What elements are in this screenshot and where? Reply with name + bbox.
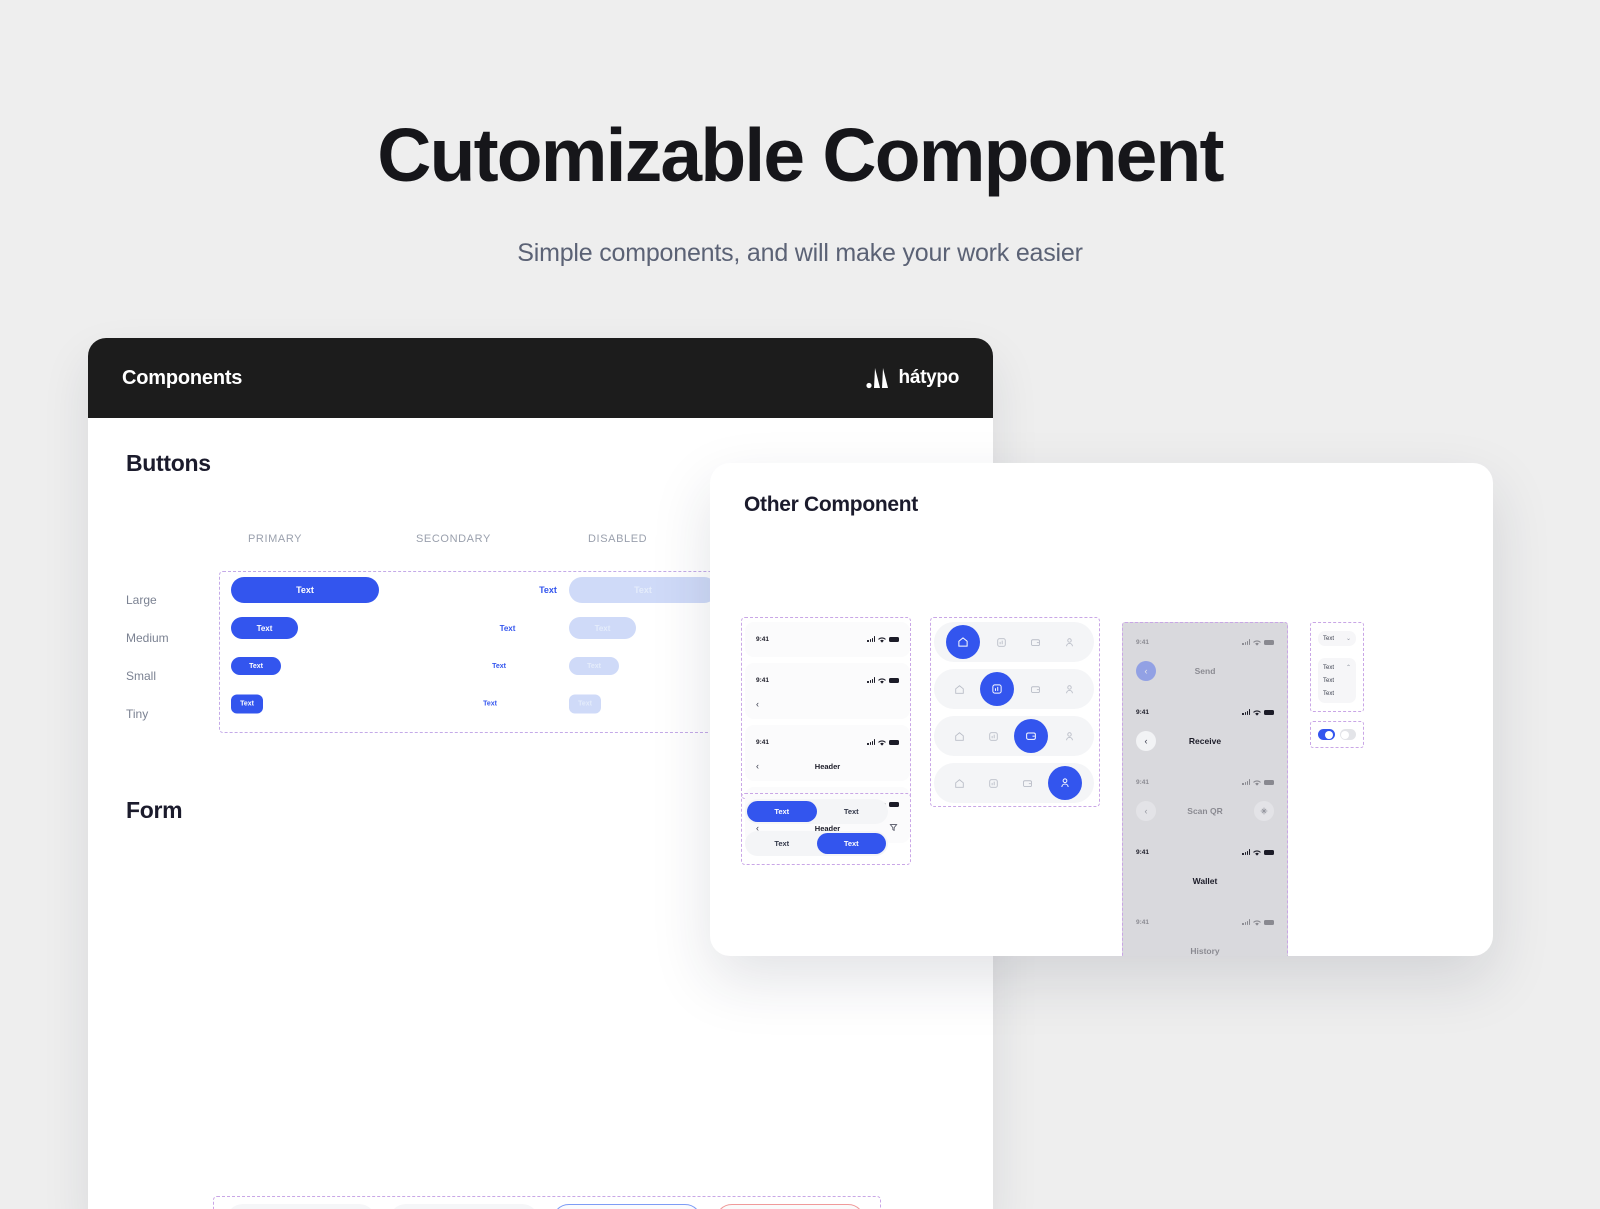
dropdown-closed-label: Text [1323,636,1334,642]
tab-home-icon[interactable] [946,676,972,702]
segmented-control: Text Text [745,799,888,824]
button-disabled-tiny: Text [569,695,601,714]
signal-icon [867,636,875,642]
back-chevron-icon[interactable]: ‹ [756,700,766,709]
battery-icon [1264,920,1274,925]
tab-wallet-icon[interactable] [1022,676,1048,702]
tab-bar [934,622,1094,662]
hero: Cutomizable Component Simple components,… [0,0,1600,268]
status-time: 9:41 [1136,639,1149,646]
right-controls-column: Text ⌄ Text ⌃ Text Text [1310,622,1420,748]
email-field-focused[interactable]: Email or Phone Number [552,1204,702,1209]
page-subtitle: Simple components, and will make your wo… [0,239,1600,268]
wifi-icon [1253,633,1261,651]
tab-wallet-icon[interactable] [1014,719,1048,753]
page-title: Cutomizable Component [0,118,1600,193]
segment-right[interactable]: Text [817,801,887,822]
segment-left-active[interactable]: Text [747,801,817,822]
status-icons [1242,843,1274,861]
spacer [1318,650,1356,658]
status-icons [1242,703,1274,721]
mobile-header-title: Scan QR [1156,806,1254,816]
other-component-stage: 9:41 9:41 [710,517,1493,947]
form-grid: Email or Phone Number Email or Phone Num… [226,1204,876,1209]
status-time: 9:41 [756,677,769,684]
battery-icon [889,637,899,642]
tab-stats-icon[interactable] [980,672,1014,706]
button-secondary-medium[interactable]: Text [474,617,541,639]
tab-stats-icon[interactable] [980,723,1006,749]
status-icons [867,733,899,751]
signal-icon [1242,919,1250,925]
segment-left[interactable]: Text [747,833,817,854]
column-header-primary: PRIMARY [248,533,302,545]
dropdown-open: Text ⌃ Text Text [1318,658,1356,703]
tab-wallet-icon[interactable] [1014,770,1040,796]
signal-icon [867,677,875,683]
wifi-icon [1253,703,1261,721]
battery-icon [1264,710,1274,715]
flash-icon[interactable] [1254,801,1274,821]
button-primary-large[interactable]: Text [231,577,379,603]
status-bar-card: 9:41 [745,622,910,657]
mobile-header-title: History [1136,946,1274,956]
mobile-header-title: Wallet [1136,876,1274,886]
components-panel-title: Components [122,367,242,390]
segment-right-active[interactable]: Text [817,833,887,854]
mobile-header-receive: 9:41 ‹ Receive [1123,693,1287,763]
chevron-down-icon: ⌄ [1346,635,1351,642]
button-primary-small[interactable]: Text [231,657,281,675]
button-disabled-medium: Text [569,617,636,639]
mobile-header-wallet: 9:41 Wallet [1123,833,1287,903]
column-header-secondary: SECONDARY [416,533,491,545]
button-primary-tiny[interactable]: Text [231,695,263,714]
dropdown-open-label: Text [1323,665,1334,671]
brand-name: hátypo [899,367,959,389]
status-time: 9:41 [756,739,769,746]
wifi-icon [1253,773,1261,791]
back-button[interactable]: ‹ [1136,801,1156,821]
tab-bar-list [934,622,1109,810]
tab-stats-icon[interactable] [980,770,1006,796]
tab-home-icon[interactable] [946,723,972,749]
page-root: Cutomizable Component Simple components,… [0,0,1600,1209]
status-icons [1242,913,1274,931]
toggle-knob [1325,731,1333,739]
status-icons [867,671,899,689]
battery-icon [889,740,899,745]
other-component-panel: Other Component 9:41 [710,463,1493,956]
status-bar-header-title: Header [766,762,889,771]
toggle-switch-on[interactable] [1318,729,1335,740]
email-field-disabled: Email or Phone Number [226,1204,376,1209]
signal-icon [867,739,875,745]
status-bar-card: 9:41 ‹ Header [745,725,910,781]
column-header-disabled: DISABLED [588,533,647,545]
dropdown-option-label: Text [1323,678,1334,684]
tab-bar [934,716,1094,756]
status-bar-card: 9:41 ‹ [745,663,910,719]
dropdown-option-label: Text [1323,691,1334,697]
status-time: 9:41 [1136,779,1149,786]
status-icons [867,630,899,648]
battery-icon [1264,850,1274,855]
button-primary-medium[interactable]: Text [231,617,298,639]
mobile-header-title: Receive [1156,736,1254,746]
status-time: 9:41 [1136,849,1149,856]
tab-stats-icon[interactable] [988,629,1014,655]
button-secondary-tiny[interactable]: Text [474,695,506,714]
mobile-header-list: 9:41 ‹ Send 9:41 [1122,622,1288,956]
chevron-up-icon: ⌃ [1346,664,1351,671]
button-secondary-small[interactable]: Text [474,657,524,675]
toggle-switch-off[interactable] [1340,729,1357,740]
button-disabled-large: Text [569,577,717,603]
dropdown-option[interactable]: Text [1323,674,1351,687]
mobile-header-title: Send [1156,666,1254,676]
battery-icon [1264,780,1274,785]
tab-person-icon[interactable] [1056,629,1082,655]
other-component-title: Other Component [744,493,1493,517]
status-icons [1242,773,1274,791]
status-time: 9:41 [756,636,769,643]
signal-icon [1242,709,1250,715]
battery-icon [1264,640,1274,645]
signal-icon [1242,779,1250,785]
segmented-control: Text Text [745,831,888,856]
signal-icon [1242,639,1250,645]
tab-home-icon[interactable] [946,625,980,659]
status-icons [1242,633,1274,651]
tab-bar [934,763,1094,803]
segmented-control-list: Text Text Text Text [745,799,910,863]
wifi-icon [1253,913,1261,931]
form-row-email: Email or Phone Number Email or Phone Num… [226,1204,876,1209]
tab-bar [934,669,1094,709]
tab-home-icon[interactable] [946,770,972,796]
email-field-filled[interactable]: Email or Phone Number [389,1204,539,1209]
hatypo-mark-icon [866,367,890,389]
toggle-dashed-frame [1310,721,1364,748]
tab-person-icon[interactable] [1048,766,1082,800]
status-time: 9:41 [1136,709,1149,716]
mobile-header-history: 9:41 History [1123,903,1287,956]
brand-logo: hátypo [866,367,959,389]
tab-wallet-icon[interactable] [1022,629,1048,655]
email-field-error[interactable]: Email or Phone Numb [715,1204,865,1209]
back-button[interactable]: ‹ [1136,731,1156,751]
wifi-icon [1253,843,1261,861]
dropdown-closed[interactable]: Text ⌄ [1318,631,1356,646]
dropdown-dashed-frame: Text ⌄ Text ⌃ Text Text [1310,622,1364,712]
tab-person-icon[interactable] [1056,723,1082,749]
mobile-header-scan-qr: 9:41 ‹ Scan QR [1123,763,1287,833]
wifi-icon [878,630,886,648]
status-time: 9:41 [1136,919,1149,926]
dropdown-open-label-row[interactable]: Text ⌃ [1323,661,1351,674]
wifi-icon [878,733,886,751]
toggle-knob [1341,731,1349,739]
wifi-icon [878,671,886,689]
back-button[interactable]: ‹ [1136,661,1156,681]
dropdown-option[interactable]: Text [1323,687,1351,700]
battery-icon [889,678,899,683]
back-chevron-icon[interactable]: ‹ [756,762,766,771]
tab-person-icon[interactable] [1056,676,1082,702]
mobile-header-send: 9:41 ‹ Send [1123,623,1287,693]
button-disabled-small: Text [569,657,619,675]
signal-icon [1242,849,1250,855]
components-panel-header: Components hátypo [88,338,993,418]
